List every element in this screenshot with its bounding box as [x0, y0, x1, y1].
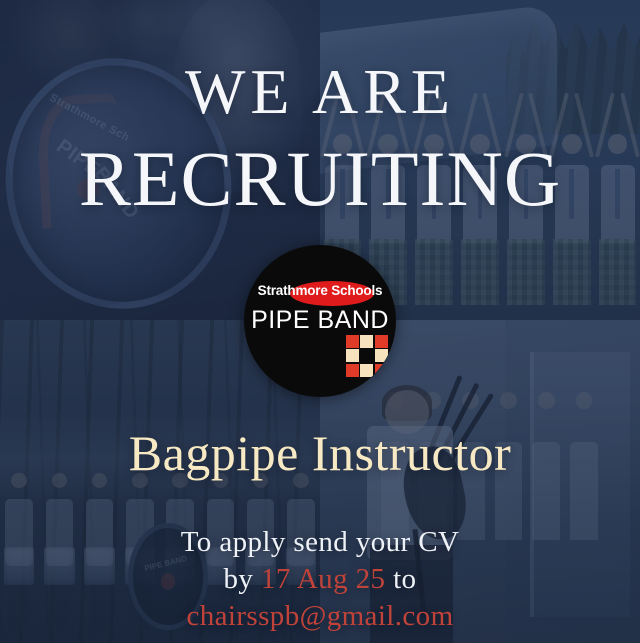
apply-email-address: chairsspb@gmail.com	[0, 598, 640, 635]
apply-instructions: To apply send your CV by 17 Aug 25 to ch…	[0, 524, 640, 635]
checker-cell	[375, 364, 388, 377]
checker-cell	[346, 364, 359, 377]
apply-line-1: To apply send your CV	[0, 524, 640, 561]
headline-recruiting: RECRUITING	[0, 140, 640, 218]
poster-content: WE ARE RECRUITING Strathmore Schools PIP…	[0, 0, 640, 643]
apply-prefix: by	[224, 563, 261, 595]
checker-cell	[360, 349, 373, 362]
headline-we-are: WE ARE	[0, 60, 640, 124]
checker-cell	[375, 349, 388, 362]
tartan-checker-icon	[344, 333, 389, 378]
apply-deadline-date: 17 Aug 25	[261, 563, 385, 595]
checker-cell	[360, 335, 373, 348]
role-title: Bagpipe Instructor	[0, 428, 640, 478]
checker-cell	[360, 364, 373, 377]
checker-cell	[375, 335, 388, 348]
apply-line-2: by 17 Aug 25 to	[0, 561, 640, 598]
recruitment-poster: Strathmore Sch PIPE BAND	[0, 0, 640, 643]
apply-suffix: to	[385, 563, 416, 595]
checker-cell	[346, 335, 359, 348]
pipe-band-logo: Strathmore Schools PIPE BAND	[244, 245, 396, 397]
checker-cell	[346, 349, 359, 362]
logo-pipe-band-text: PIPE BAND	[244, 306, 396, 335]
logo-strathmore-schools-text: Strathmore Schools	[244, 283, 396, 298]
